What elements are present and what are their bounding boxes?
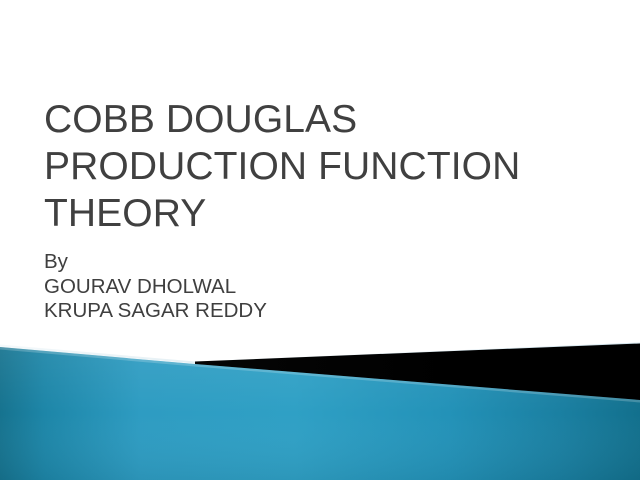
teal-top-highlight bbox=[0, 347, 640, 403]
slide-canvas: COBB DOUGLAS PRODUCTION FUNCTION THEORY … bbox=[0, 0, 640, 480]
teal-band-shading bbox=[0, 347, 640, 480]
title-text-block: COBB DOUGLAS PRODUCTION FUNCTION THEORY … bbox=[44, 96, 600, 324]
teal-band bbox=[0, 347, 640, 480]
page-title: COBB DOUGLAS PRODUCTION FUNCTION THEORY bbox=[44, 96, 600, 237]
black-wedge bbox=[195, 344, 640, 402]
page-subtitle: By GOURAV DHOLWAL KRUPA SAGAR REDDY bbox=[44, 250, 600, 324]
pale-blue-wedge bbox=[0, 343, 640, 366]
